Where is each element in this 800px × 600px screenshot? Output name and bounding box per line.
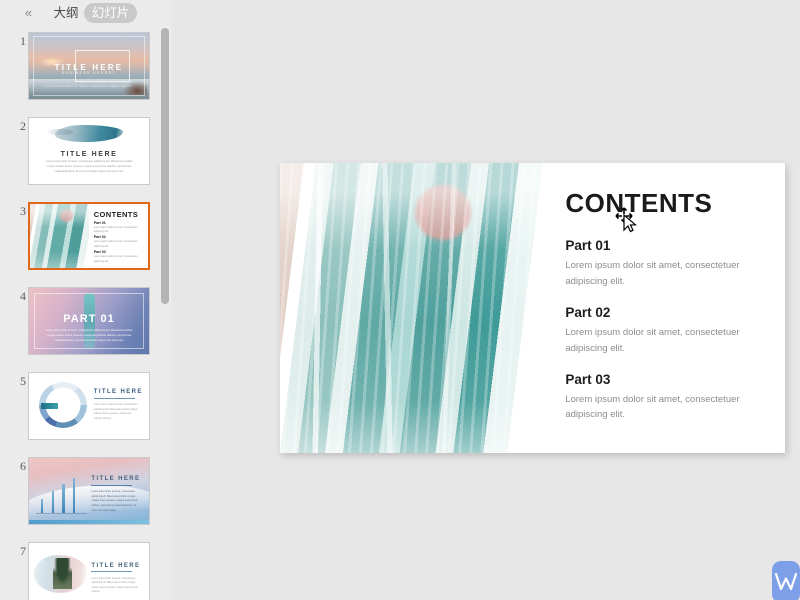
thumbnail-frame[interactable]: TITLE HERE Lorem ipsum dolor sit amet, c… (28, 457, 150, 525)
scrollbar-thumb[interactable] (161, 28, 169, 304)
content-item-3[interactable]: Part 03 Lorem ipsum dolor sit amet, cons… (565, 372, 762, 423)
wps-academy-watermark: WPS学院 (772, 549, 800, 600)
thumbnail-frame[interactable]: TITLE HERE Lorem ipsum dolor sit amet, c… (28, 372, 150, 440)
slide-navigator-panel: « 大纲 幻灯片 1 TITLE HERE BUSINESS REPORT Lo… (0, 0, 172, 600)
content-item-1[interactable]: Part 01 Lorem ipsum dolor sit amet, cons… (565, 238, 762, 289)
slide-thumbnail-4[interactable]: 4 PART 01 Lorem ipsum dolor sit amet, co… (0, 281, 158, 366)
wps-logo-icon (772, 561, 800, 600)
watercolor-forest-image[interactable] (280, 163, 543, 453)
slide-title: CONTENTS (565, 188, 712, 219)
thumbnail-scrollbar[interactable] (158, 26, 172, 600)
slide-number: 7 (12, 544, 26, 559)
slide-number: 6 (12, 459, 26, 474)
slide-thumbnail-3[interactable]: 3 CONTENTS Part 01 Lorem ipsum dolor sit… (0, 196, 158, 281)
thumbnail-frame[interactable]: TITLE HERE BUSINESS REPORT Lorem ipsum d… (28, 32, 150, 100)
panel-header: « 大纲 幻灯片 (0, 0, 172, 26)
content-item-2[interactable]: Part 02 Lorem ipsum dolor sit amet, cons… (565, 305, 762, 356)
part-heading: Part 02 (565, 305, 762, 320)
collapse-panel-icon[interactable]: « (18, 4, 38, 22)
slide-number: 5 (12, 374, 26, 389)
slide-number: 3 (12, 204, 26, 219)
slide-thumbnail-1[interactable]: 1 TITLE HERE BUSINESS REPORT Lorem ipsum… (0, 26, 158, 111)
part-heading: Part 01 (565, 238, 762, 253)
part-text: Lorem ipsum dolor sit amet, consectetuer… (565, 392, 762, 423)
thumbnail-frame[interactable]: TITLE HERE Lorem ipsum dolor sit amet, c… (28, 542, 150, 600)
part-text: Lorem ipsum dolor sit amet, consectetuer… (565, 258, 762, 289)
slide-editor-area[interactable]: CONTENTS Part 01 Lorem ipsum dolor sit a… (172, 0, 800, 600)
slide-number: 2 (12, 119, 26, 134)
part-heading: Part 03 (565, 372, 762, 387)
slide-thumbnail-list[interactable]: 1 TITLE HERE BUSINESS REPORT Lorem ipsum… (0, 26, 158, 600)
thumbnail-frame[interactable]: TITLE HERE Lorem ipsum dolor sit amet, c… (28, 117, 150, 185)
slide-thumbnail-2[interactable]: 2 TITLE HERE Lorem ipsum dolor sit amet,… (0, 111, 158, 196)
part-text: Lorem ipsum dolor sit amet, consectetuer… (565, 325, 762, 356)
slide-number: 4 (12, 289, 26, 304)
image-streaks (280, 163, 543, 453)
slide-thumbnail-6[interactable]: 6 TITLE HERE Lorem ipsum dolor sit amet,… (0, 451, 158, 536)
thumbnail-frame[interactable]: CONTENTS Part 01 Lorem ipsum dolor sit a… (28, 202, 150, 270)
slide-number: 1 (12, 34, 26, 49)
slide-canvas[interactable]: CONTENTS Part 01 Lorem ipsum dolor sit a… (280, 163, 785, 453)
slide-thumbnail-5[interactable]: 5 TITLE HERE Lorem ipsum dolor sit amet,… (0, 366, 158, 451)
tab-slides[interactable]: 幻灯片 (84, 3, 137, 23)
slide-thumbnail-7[interactable]: 7 TITLE HERE Lorem ipsum dolor sit amet,… (0, 536, 158, 600)
thumbnail-frame[interactable]: PART 01 Lorem ipsum dolor sit amet, cons… (28, 287, 150, 355)
tab-outline[interactable]: 大纲 (44, 3, 88, 23)
